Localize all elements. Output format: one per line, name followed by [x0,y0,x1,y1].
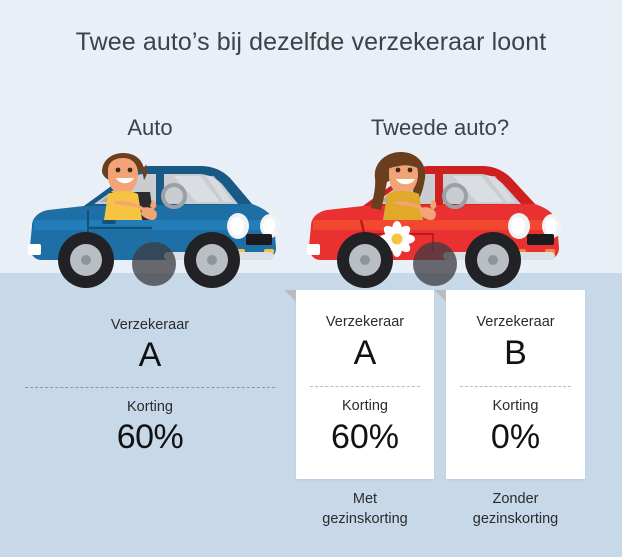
card-b-caption: Zonder gezinskorting [446,489,585,529]
left-discount-label: Korting [25,397,275,417]
left-stat-block: Verzekeraar A Korting 60% [25,315,275,458]
card-b-caption-line1: Zonder [446,489,585,509]
card-a-divider [310,386,420,387]
card-a-discount-value: 60% [306,416,424,458]
folded-corner-icon [434,290,446,302]
left-discount-value: 60% [25,416,275,458]
card-a-caption-line2: gezinskorting [296,509,434,529]
card-a-insurer-value: A [306,332,424,374]
card-b-discount-label: Korting [456,396,575,416]
card-b-discount-value: 0% [456,416,575,458]
blue-car-illustration [24,148,280,290]
card-b-caption-line2: gezinskorting [446,509,585,529]
card-a-caption: Met gezinskorting [296,489,434,529]
folded-corner-icon [284,290,296,302]
card-b-insurer-label: Verzekeraar [456,312,575,332]
left-insurer-value: A [25,334,275,376]
card-a-discount-label: Korting [306,396,424,416]
insurer-card-b[interactable]: Verzekeraar B Korting 0% [446,290,585,479]
infographic-canvas: Twee auto’s bij dezelfde verzekeraar loo… [0,0,622,557]
red-car-illustration [303,148,565,290]
column-heading-right: Tweede auto? [330,115,550,141]
left-insurer-label: Verzekeraar [25,315,275,335]
card-b-insurer-value: B [456,332,575,374]
card-a-caption-line1: Met [296,489,434,509]
card-a-insurer-label: Verzekeraar [306,312,424,332]
card-b-divider [460,386,571,387]
insurer-card-a[interactable]: Verzekeraar A Korting 60% [296,290,434,479]
column-heading-left: Auto [40,115,260,141]
left-divider [25,387,275,388]
page-title: Twee auto’s bij dezelfde verzekeraar loo… [0,28,622,57]
